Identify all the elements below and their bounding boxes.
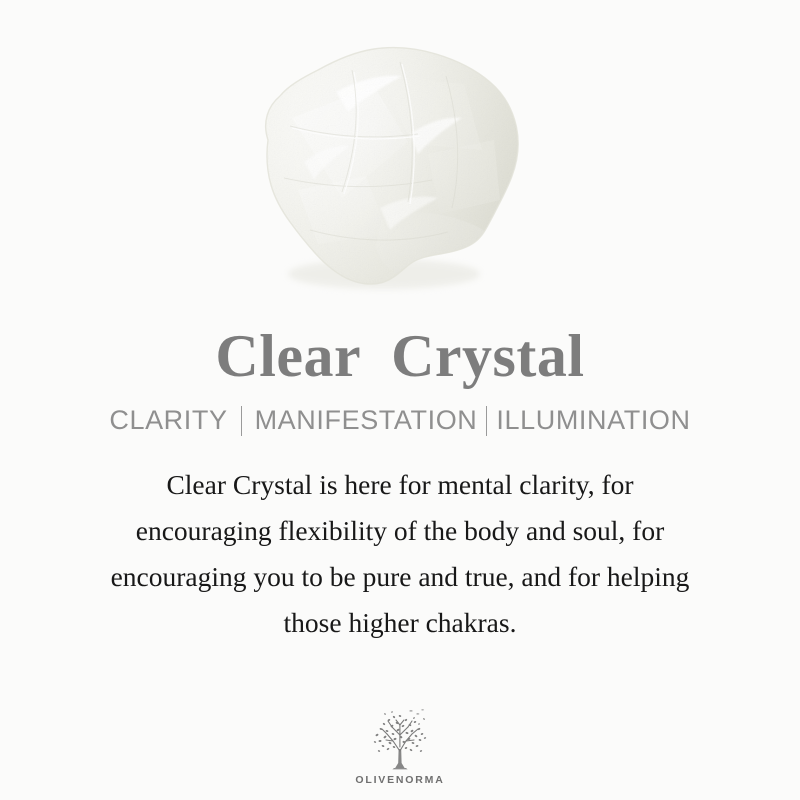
brand-wordmark: OLIVENORMA <box>355 774 444 786</box>
keyword-separator-icon <box>486 406 487 436</box>
description-line: Clear Crystal is here for mental clarity… <box>30 462 770 508</box>
clear-crystal-stone-icon <box>232 22 542 307</box>
keyword-illumination: ILLUMINATION <box>496 405 690 436</box>
olive-tree-icon <box>363 707 437 773</box>
brand-logo: OLIVENORMA <box>0 707 800 786</box>
product-info-card: Clear Crystal CLARITY MANIFESTATION ILLU… <box>0 0 800 800</box>
description-line: those higher chakras. <box>30 600 770 646</box>
description-line: encouraging you to be pure and true, and… <box>30 554 770 600</box>
keyword-clarity: CLARITY <box>109 405 227 436</box>
keyword-manifestation: MANIFESTATION <box>255 405 478 436</box>
page-title: Clear Crystal <box>0 320 800 392</box>
keyword-separator-icon <box>241 406 242 436</box>
product-description: Clear Crystal is here for mental clarity… <box>30 462 770 646</box>
keyword-strip: CLARITY MANIFESTATION ILLUMINATION <box>0 392 800 448</box>
product-image-area <box>0 0 800 320</box>
description-line: encouraging flexibility of the body and … <box>30 508 770 554</box>
